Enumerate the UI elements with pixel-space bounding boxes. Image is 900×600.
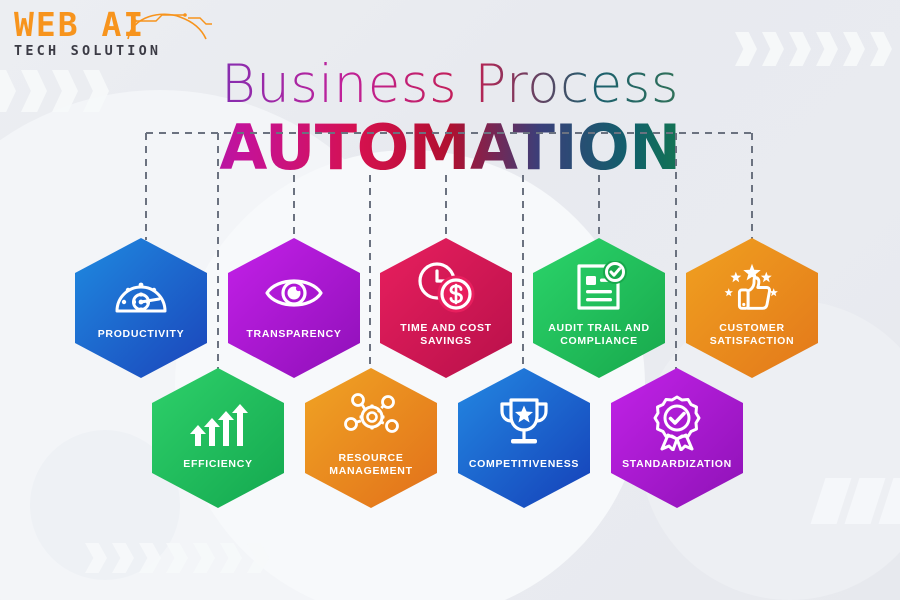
hexagon-label: PRODUCTIVITY xyxy=(82,328,200,341)
chevron-icon xyxy=(85,543,107,573)
chevron-icon xyxy=(193,543,215,573)
trophy-icon xyxy=(493,394,555,452)
hexagon-label: COMPETITIVENESS xyxy=(465,458,583,471)
chevron-icon xyxy=(220,543,242,573)
circuit-arc-icon xyxy=(122,8,214,42)
document-check-badge-icon xyxy=(568,258,630,316)
hexagon-label: CUSTOMER SATISFACTION xyxy=(693,322,811,348)
award-ribbon-check-icon xyxy=(646,394,708,452)
background-circle-center xyxy=(175,150,645,600)
hexagon-label: TIME AND COST SAVINGS xyxy=(387,322,505,348)
title-line-2: AUTOMATION xyxy=(0,114,900,182)
clock-and-dollar-coin-icon xyxy=(415,258,477,316)
hexagon-label: STANDARDIZATION xyxy=(618,458,736,471)
chevron-icon xyxy=(166,543,188,573)
speedometer-gauge-icon xyxy=(110,264,172,322)
chevron-icon xyxy=(112,543,134,573)
hexagon-label: TRANSPARENCY xyxy=(235,328,353,341)
hexagon-label: RESOURCE MANAGEMENT xyxy=(312,452,430,478)
chevron-icon xyxy=(247,543,269,573)
title-line-1: Business Process xyxy=(0,56,900,114)
network-nodes-icon xyxy=(340,388,402,446)
slant-bar xyxy=(845,478,886,524)
slanted-bars-bottom-right xyxy=(818,478,900,524)
chevron-group-bottom-left xyxy=(85,543,269,573)
ascending-arrows-icon xyxy=(187,394,249,452)
page-title: Business Process AUTOMATION xyxy=(0,56,900,182)
chevron-icon xyxy=(139,543,161,573)
hexagon-label: EFFICIENCY xyxy=(159,458,277,471)
hexagon-label: AUDIT TRAIL AND COMPLIANCE xyxy=(540,322,658,348)
eye-icon xyxy=(263,264,325,322)
thumbs-up-stars-icon xyxy=(721,258,783,316)
